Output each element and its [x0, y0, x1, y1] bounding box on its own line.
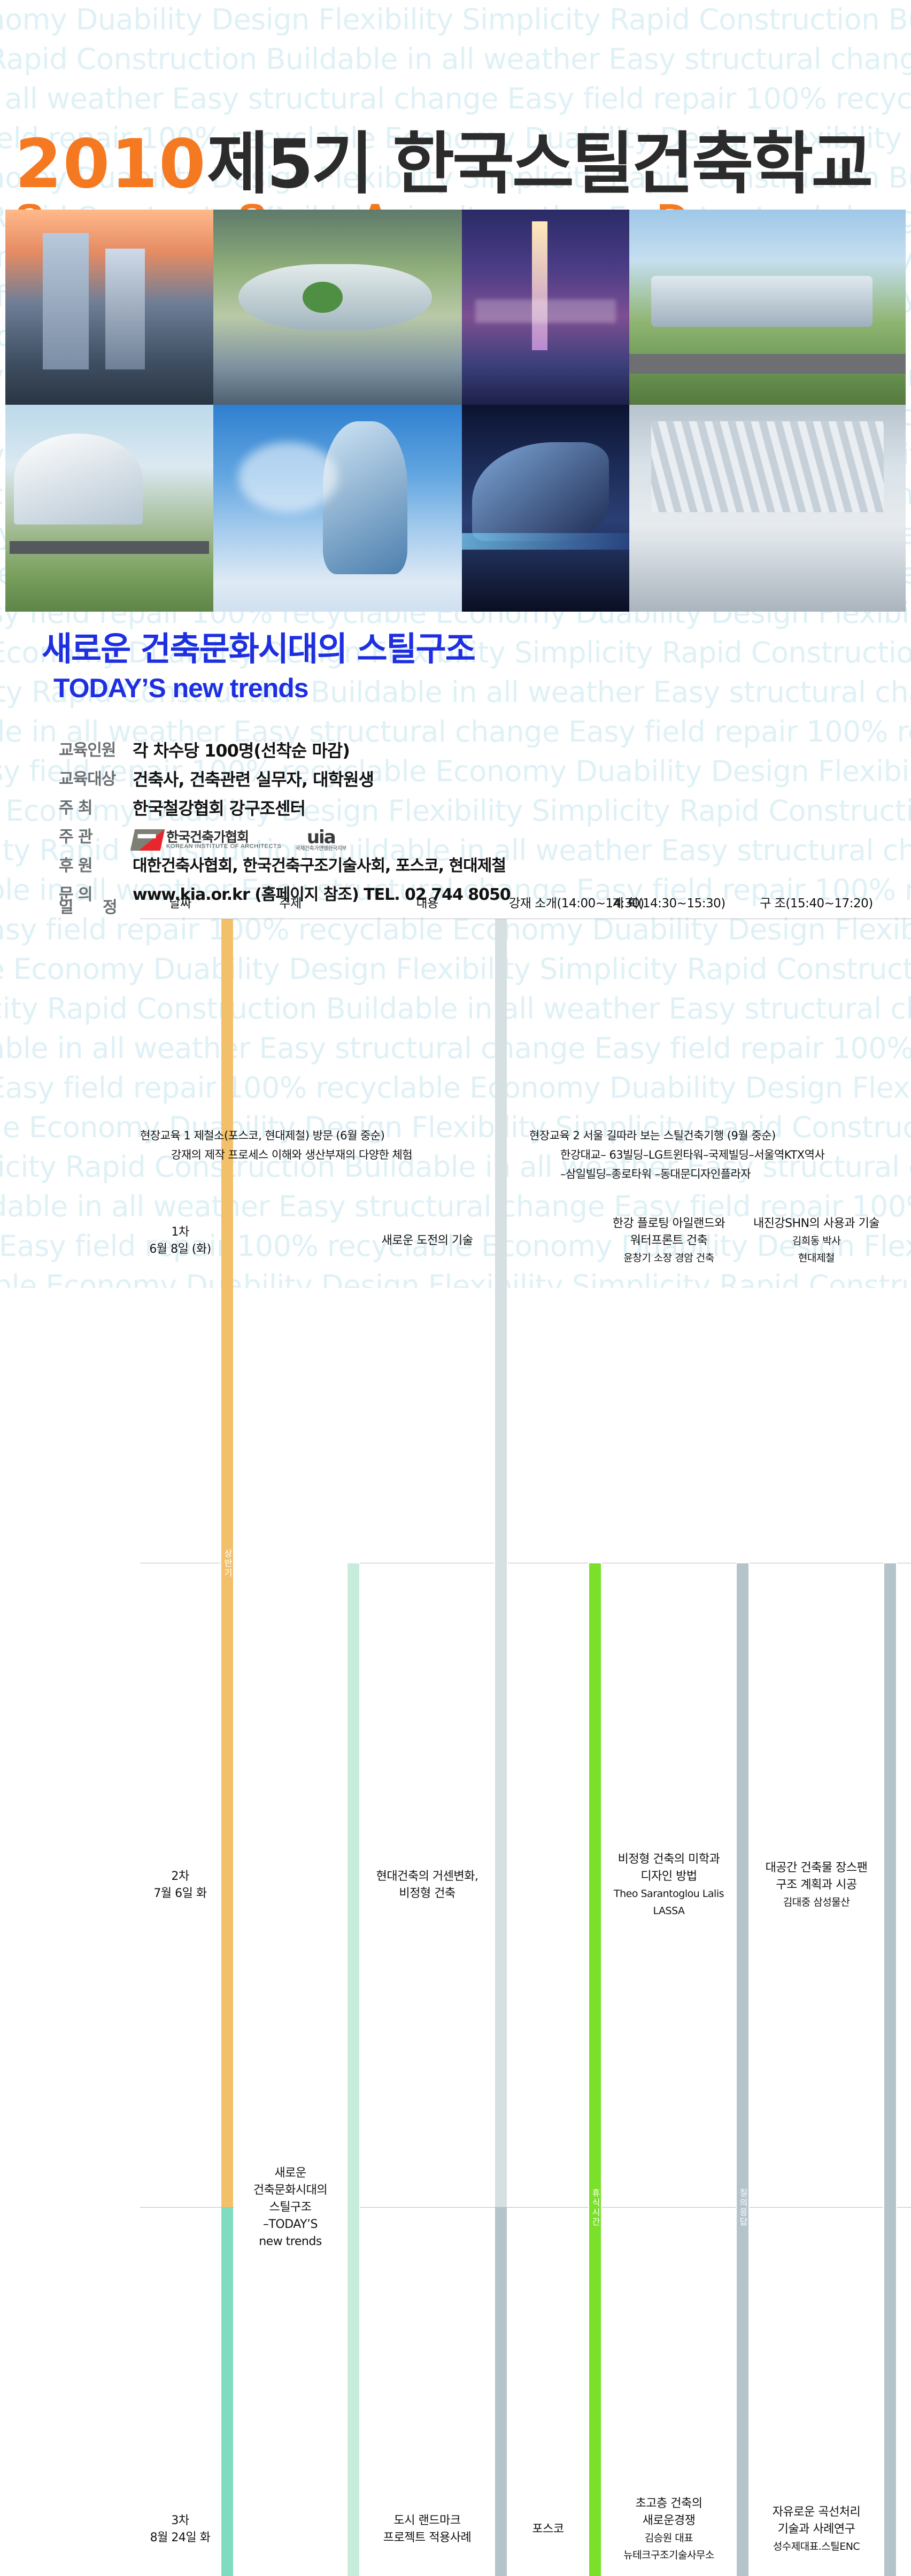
- mosaic-tile-night-skyline-tower-render: [462, 210, 629, 405]
- schedule-bar-half: 상반기: [220, 919, 234, 2208]
- footnote-line: –삼일빌딩–종로타워 –동대문디자인플라자: [560, 1166, 889, 1182]
- schedule-cell-structure: 자유로운 곡선처리기술과 사례연구성수제대표.스틸ENC: [750, 2208, 883, 2576]
- mosaic-tile-curved-white-canopy-render: [462, 405, 629, 612]
- schedule-column-header: 구 조(15:40~17:20): [750, 890, 883, 919]
- headline-block: 새로운 건축문화시대의 스틸구조 TODAY’S new trends: [42, 630, 475, 705]
- image-mosaic: [5, 210, 906, 612]
- schedule-cell-venue: 한국과학기술단체총연합회: [897, 1563, 911, 2208]
- schedule-column-header: 장소: [897, 890, 911, 919]
- mosaic-tile-glass-atrium-interior-render: [629, 405, 906, 612]
- info-row: 교육대상건축사, 건축관련 실무자, 대학원생: [59, 768, 647, 793]
- info-row: 교육인원각 차수당 100명(선착순 마감): [59, 739, 647, 765]
- schedule-cell-date: 3차8월 24일 화: [140, 2208, 220, 2576]
- info-label: 교육인원: [59, 739, 133, 762]
- schedule-row: 1차6월 8일 (화)상반기새로운건축문화시대의스틸구조–TODAY’Snew …: [140, 919, 911, 1563]
- mosaic-tile-exhibition-hall-campus-render: [629, 210, 906, 405]
- schedule-spacer-header: [883, 890, 897, 919]
- info-value: 건축사, 건축관련 실무자, 대학원생: [133, 768, 374, 791]
- footnote-line: 한강대교– 63빌딩–LG트윈타워–국제빌딩–서울역KTX역사: [560, 1146, 889, 1162]
- host-logos: 한국건축가협회KOREAN INSTITUTE OF ARCHITECTSuia…: [133, 826, 346, 854]
- kia-logo: 한국건축가협회KOREAN INSTITUTE OF ARCHITECTS: [133, 829, 281, 851]
- info-row: 주 관한국건축가협회KOREAN INSTITUTE OF ARCHITECTS…: [59, 826, 647, 851]
- schedule-table-head: 날짜주제내용강재 소개(14:00~14:30)계 획(14:30~15:30)…: [140, 890, 911, 919]
- info-label: 주 최: [59, 797, 133, 820]
- schedule-cell-venue: 국제회의실소회의실2: [897, 2208, 911, 2576]
- info-row: 주 최한국철강협회 강구조센터: [59, 797, 647, 822]
- schedule-cell-plan: 한강 플로팅 아일랜드와워터프론트 건축윤창기 소장 경암 건축: [602, 919, 736, 1563]
- schedule-cell-content: 도시 랜드마크프로젝트 적용사례: [360, 2208, 494, 2576]
- headline-english: TODAY’S new trends: [53, 672, 475, 705]
- info-value: 대한건축사협회, 한국건축구조기술사회, 포스코, 현대제철: [133, 854, 506, 878]
- schedule-column-header: 내용: [360, 890, 494, 919]
- kia-logo-english: KOREAN INSTITUTE OF ARCHITECTS: [166, 844, 281, 850]
- kia-logo-korean: 한국건축가협회: [166, 830, 281, 844]
- schedule-column-header: 강재 소개(14:00~14:30): [508, 890, 588, 919]
- title-korean: 제5기 한국스틸건축학교: [207, 125, 871, 203]
- headline-korean: 새로운 건축문화시대의 스틸구조: [42, 630, 475, 668]
- schedule-spacer-header: [736, 890, 750, 919]
- schedule-bar-qa-1: [494, 919, 508, 2208]
- schedule-cell-content: 현대건축의 거센변화,비정형 건축: [360, 1563, 494, 2208]
- kia-logo-text: 한국건축가협회KOREAN INSTITUTE OF ARCHITECTS: [166, 830, 281, 850]
- schedule-column-header: 계 획(14:30~15:30): [602, 890, 736, 919]
- schedule-bar-half: 하반기: [220, 2208, 234, 2576]
- info-block: 교육인원각 차수당 100명(선착순 마감)교육대상건축사, 건축관련 실무자,…: [59, 739, 647, 912]
- info-label: 교육대상: [59, 768, 133, 791]
- schedule-cell-structure: 내진강SHN의 사용과 기술김희동 박사현대제철: [750, 919, 883, 1563]
- footnotes: 현장교육 1 제철소(포스코, 현대제철) 방문 (6월 중순)강재의 제작 프…: [140, 1127, 889, 1182]
- schedule-cell-structure: 대공간 건축물 장스팬구조 계획과 시공김대중 삼성물산: [750, 1563, 883, 2208]
- info-label: 후 원: [59, 854, 133, 878]
- info-label: 주 관: [59, 826, 133, 849]
- schedule-cell-content: 새로운 도전의 기술: [360, 919, 494, 1563]
- schedule-column-header: 주제: [234, 890, 346, 919]
- mosaic-tile-station-plaza-aerial-render: [5, 405, 213, 612]
- footnote-column: 현장교육 2 서울 길따라 보는 스틸건축기행 (9월 중순)한강대교– 63빌…: [529, 1127, 889, 1182]
- schedule-cell-steel-intro: 포스코: [508, 2208, 588, 2576]
- schedule-bar-qa-1: 질의응답: [494, 2208, 508, 2576]
- info-value: 각 차수당 100명(선착순 마감): [133, 739, 350, 762]
- schedule-spacer-header: [346, 890, 360, 919]
- schedule-cell-venue: [897, 919, 911, 1563]
- schedule-cell-steel-intro: [508, 1563, 588, 2208]
- info-value: 한국철강협회 강구조센터: [133, 797, 305, 820]
- schedule-label: 일 정: [59, 894, 129, 917]
- mosaic-tile-sky-sculpture-tower-render: [213, 405, 462, 612]
- schedule-cell-date: 1차6월 8일 (화): [140, 919, 220, 1563]
- schedule-header-row: 날짜주제내용강재 소개(14:00~14:30)계 획(14:30~15:30)…: [140, 890, 911, 919]
- page-title: 2010제5기 한국스틸건축학교: [15, 133, 911, 196]
- footnote-line: 강재의 제작 프로세스 이해와 생산부재의 다양한 체험: [171, 1146, 499, 1162]
- footnote-column: 현장교육 1 제철소(포스코, 현대제철) 방문 (6월 중순)강재의 제작 프…: [140, 1127, 499, 1182]
- schedule-column-header: 날짜: [140, 890, 220, 919]
- schedule-cell-steel-intro: [508, 919, 588, 1563]
- title-year: 2010: [15, 125, 207, 203]
- footnote-heading: 현장교육 2 서울 길따라 보는 스틸건축기행 (9월 중순): [529, 1127, 889, 1143]
- schedule-spacer-header: [220, 890, 234, 919]
- uia-logo-sub: 국제건축가연맹한국지부: [295, 846, 346, 852]
- uia-logo: uia국제건축가연맹한국지부: [295, 828, 346, 852]
- schedule-cell-plan: 비정형 건축의 미학과디자인 방법Theo Sarantoglou Lalis …: [602, 1563, 736, 2208]
- info-row: 후 원대한건축사협회, 한국건축구조기술사회, 포스코, 현대제철: [59, 854, 647, 880]
- schedule-spacer-header: [494, 890, 508, 919]
- mosaic-tile-twin-towers-sunset-render: [5, 210, 213, 405]
- schedule-cell-date: 2차7월 6일 화: [140, 1563, 220, 2208]
- poster-root: 2010제5기 한국스틸건축학교 School of Steel Archite…: [0, 0, 911, 1288]
- footnote-heading: 현장교육 1 제철소(포스코, 현대제철) 방문 (6월 중순): [140, 1127, 499, 1143]
- uia-logo-mark: uia: [295, 828, 346, 846]
- mosaic-tile-airport-terminal-aerial-render: [213, 210, 462, 405]
- schedule-cell-plan: 초고층 건축의새로운경쟁김승원 대표뉴테크구조기술사무소: [602, 2208, 736, 2576]
- kia-logo-mark-icon: [130, 829, 165, 851]
